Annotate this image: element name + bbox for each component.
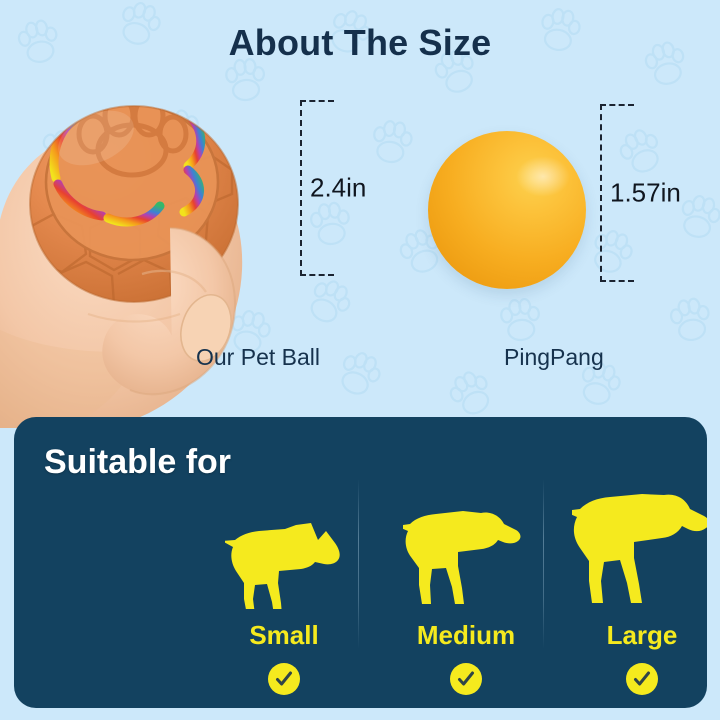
size-option-large[interactable]: Large [562,479,707,701]
measure-line-vertical [600,104,602,282]
size-option-small[interactable]: Small [204,479,364,701]
caption-pet-ball: Our Pet Ball [196,344,320,371]
check-icon-small [268,663,300,695]
size-option-medium[interactable]: Medium [386,479,546,701]
panel-title: Suitable for [44,443,231,482]
check-icon [274,669,294,689]
measure-tick-top [300,100,334,102]
measure-value-pingpang: 1.57in [610,178,681,209]
measure-line-vertical [300,100,302,276]
measure-tick-bottom [300,274,334,276]
suitable-for-panel: Suitable for Small Medium [14,417,707,708]
pingpang-ball-image [428,131,586,289]
check-icon [632,669,652,689]
measure-value-pet-ball: 2.4in [310,173,366,204]
medium-dog-icon [403,509,529,609]
size-label-large: Large [607,620,678,651]
size-label-medium: Medium [417,620,515,651]
product-infographic: About The Size [0,0,720,720]
measure-tick-top [600,104,634,106]
large-dog-icon [572,493,707,609]
page-title: About The Size [0,22,720,64]
pet-ball-in-hand-image [0,78,302,428]
check-icon [456,669,476,689]
small-dog-icon [225,517,343,609]
check-icon-large [626,663,658,695]
size-label-small: Small [249,620,318,651]
check-icon-medium [450,663,482,695]
caption-pingpang: PingPang [504,344,604,371]
measure-tick-bottom [600,280,634,282]
